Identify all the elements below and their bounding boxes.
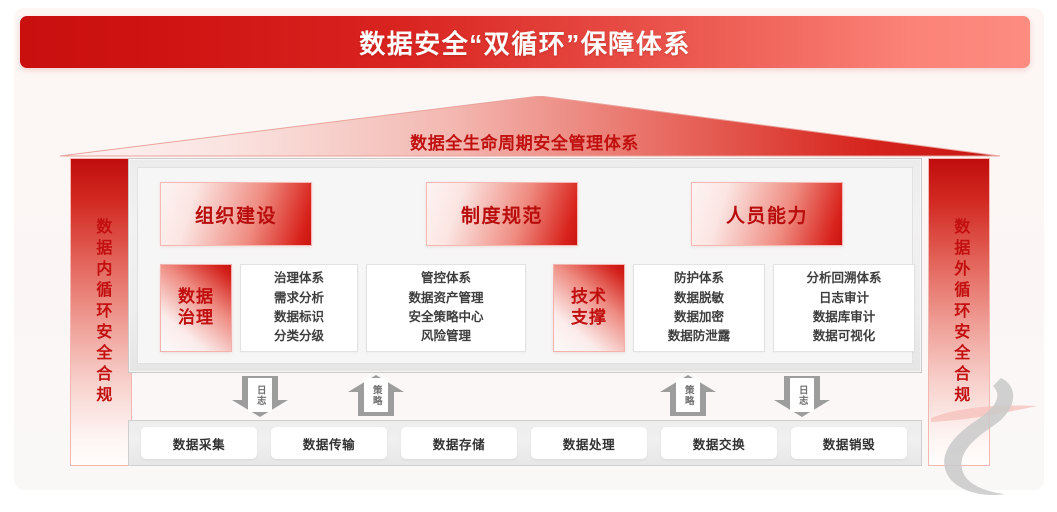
lifecycle-row: 数据采集 数据传输 数据存储 数据处理 数据交换 数据销毁 — [135, 427, 915, 459]
connector-label: 日志 — [255, 385, 265, 406]
capability-label-tech-support[interactable]: 技术支撑 — [553, 264, 625, 352]
capability-label-data-governance[interactable]: 数据治理 — [160, 264, 232, 352]
pillar-left-label: 数据内循环安全合规 — [93, 218, 110, 407]
governance-row: 组织建设 制度规范 人员能力 — [148, 182, 902, 246]
connector-cap: 日志 — [790, 378, 814, 412]
capability-label: 数据治理 — [178, 287, 214, 328]
connector-log-left: 日志 — [232, 374, 288, 418]
governance-box-label: 人员能力 — [726, 201, 808, 228]
lifecycle-stage-transmit[interactable]: 数据传输 — [271, 427, 387, 459]
lifecycle-stage-store[interactable]: 数据存储 — [401, 427, 517, 459]
capability-items: 防护体系数据脱敏数据加密数据防泄露 — [668, 269, 731, 347]
governance-box-policy[interactable]: 制度规范 — [426, 182, 578, 246]
capability-panel[interactable]: 管控体系数据资产管理安全策略中心风险管理 — [366, 264, 526, 352]
pillar-right-label: 数据外循环安全合规 — [951, 218, 968, 407]
lifecycle-stage-destroy[interactable]: 数据销毁 — [791, 427, 907, 459]
roof-triangle — [60, 96, 1000, 158]
connector-label: 策略 — [683, 385, 693, 406]
lifecycle-stage-label: 数据采集 — [173, 434, 225, 453]
connector-cap: 策略 — [676, 378, 700, 412]
capability-items: 分析回溯体系日志审计数据库审计数据可视化 — [806, 269, 881, 347]
governance-box-label: 组织建设 — [195, 201, 277, 228]
lifecycle-stage-collect[interactable]: 数据采集 — [141, 427, 257, 459]
lifecycle-stage-label: 数据存储 — [433, 434, 485, 453]
lifecycle-panel: 数据采集 数据传输 数据存储 数据处理 数据交换 数据销毁 — [128, 420, 922, 466]
governance-box-personnel[interactable]: 人员能力 — [691, 182, 843, 246]
connector-band: 日志 策略 策略 日志 — [128, 374, 922, 418]
lifecycle-stage-label: 数据传输 — [303, 434, 355, 453]
governance-box-label: 制度规范 — [461, 201, 543, 228]
connector-policy-left: 策略 — [348, 374, 404, 418]
connector-cap: 日志 — [248, 378, 272, 412]
lifecycle-stage-label: 数据处理 — [563, 434, 615, 453]
governance-box-organization[interactable]: 组织建设 — [160, 182, 312, 246]
capability-items: 治理体系需求分析数据标识分类分级 — [274, 269, 324, 347]
connector-label: 日志 — [797, 385, 807, 406]
capability-panel[interactable]: 分析回溯体系日志审计数据库审计数据可视化 — [773, 264, 915, 352]
connector-label: 策略 — [371, 385, 381, 406]
page-title: 数据安全“双循环”保障体系 — [359, 24, 691, 61]
pillar-right: 数据外循环安全合规 — [928, 158, 990, 466]
capability-panel[interactable]: 治理体系需求分析数据标识分类分级 — [240, 264, 358, 352]
connector-log-right: 日志 — [774, 374, 830, 418]
capability-panel[interactable]: 防护体系数据脱敏数据加密数据防泄露 — [633, 264, 765, 352]
capability-row: 数据治理 治理体系需求分析数据标识分类分级 管控体系数据资产管理安全策略中心风险… — [148, 264, 902, 352]
lifecycle-stage-exchange[interactable]: 数据交换 — [661, 427, 777, 459]
infographic-canvas: 数据安全“双循环”保障体系 数据全生命周期安全管理体系 数据内循环安全合规 数据… — [0, 0, 1057, 512]
pillar-left: 数据内循环安全合规 — [70, 158, 132, 466]
main-body-panel: 组织建设 制度规范 人员能力 数据治理 治理体系需求分析数据标识分类分级 管控体… — [128, 158, 922, 373]
capability-items: 管控体系数据资产管理安全策略中心风险管理 — [408, 269, 483, 347]
capability-label: 技术支撑 — [571, 287, 607, 328]
connector-cap: 策略 — [364, 378, 388, 412]
connector-policy-right: 策略 — [660, 374, 716, 418]
title-banner: 数据安全“双循环”保障体系 — [20, 16, 1030, 68]
lifecycle-stage-process[interactable]: 数据处理 — [531, 427, 647, 459]
lifecycle-stage-label: 数据交换 — [693, 434, 745, 453]
inner-panel: 组织建设 制度规范 人员能力 数据治理 治理体系需求分析数据标识分类分级 管控体… — [137, 167, 913, 364]
lifecycle-stage-label: 数据销毁 — [823, 434, 875, 453]
